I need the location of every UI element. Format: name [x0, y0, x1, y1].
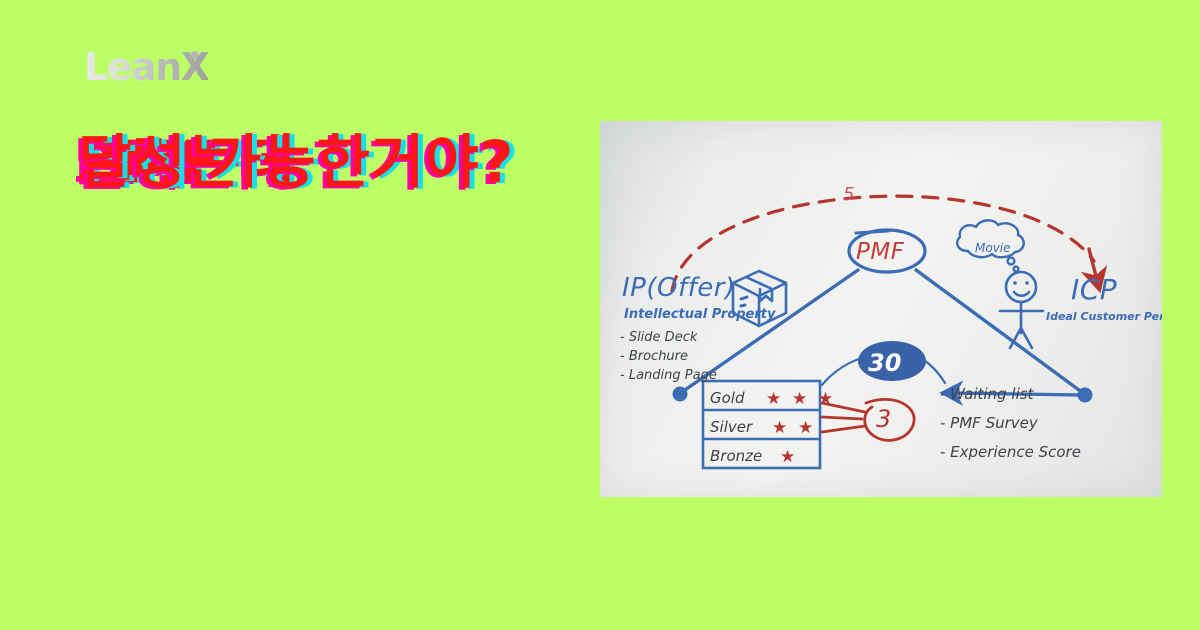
- node-dot-left: [673, 387, 688, 402]
- ip-offer-item-2: - Brochure: [620, 349, 688, 364]
- headline-text: 달성 가능한거야?: [78, 128, 514, 196]
- tier-row: Gold: [710, 389, 745, 407]
- icp-title: ICP: [1071, 273, 1117, 306]
- metric-item-3: - Experience Score: [940, 443, 1081, 461]
- leanx-logo: LeanX: [84, 48, 208, 86]
- tier-row: Bronze: [710, 447, 762, 465]
- tier-row: Silver: [710, 418, 752, 436]
- metric-item-2: - PMF Survey: [940, 414, 1038, 432]
- tier-stars-gold: ★ ★ ★: [766, 389, 836, 409]
- tier-stars-bronze: ★: [780, 447, 798, 467]
- logo-dot-icon: [191, 51, 199, 59]
- tier-stars-silver: ★ ★: [772, 418, 816, 438]
- ip-offer-title: IP(Offer): [622, 273, 736, 303]
- icp-subtitle: Ideal Customer Persona: [1046, 310, 1162, 323]
- ip-offer-subtitle: Intellectual Property: [624, 307, 775, 322]
- pmf-label: PMF: [856, 239, 904, 265]
- count-badge-label-30: 30: [868, 349, 901, 377]
- poster-canvas: LeanX PMF PMF PMF PMF PMF PMF 그러는데 그러는데 …: [0, 0, 1200, 630]
- whiteboard-photo: IP(Offer) Intellectual Property - Slide …: [600, 121, 1162, 497]
- ip-offer-item-1: - Slide Deck: [620, 330, 697, 345]
- arc-label-5: 5: [843, 184, 854, 205]
- ip-offer-item-3: - Landing Page: [620, 368, 717, 383]
- thought-bubble-label: Movie: [975, 241, 1011, 255]
- tier-badge-label-3: 3: [876, 405, 891, 433]
- metric-item-1: - Waiting list: [940, 385, 1033, 403]
